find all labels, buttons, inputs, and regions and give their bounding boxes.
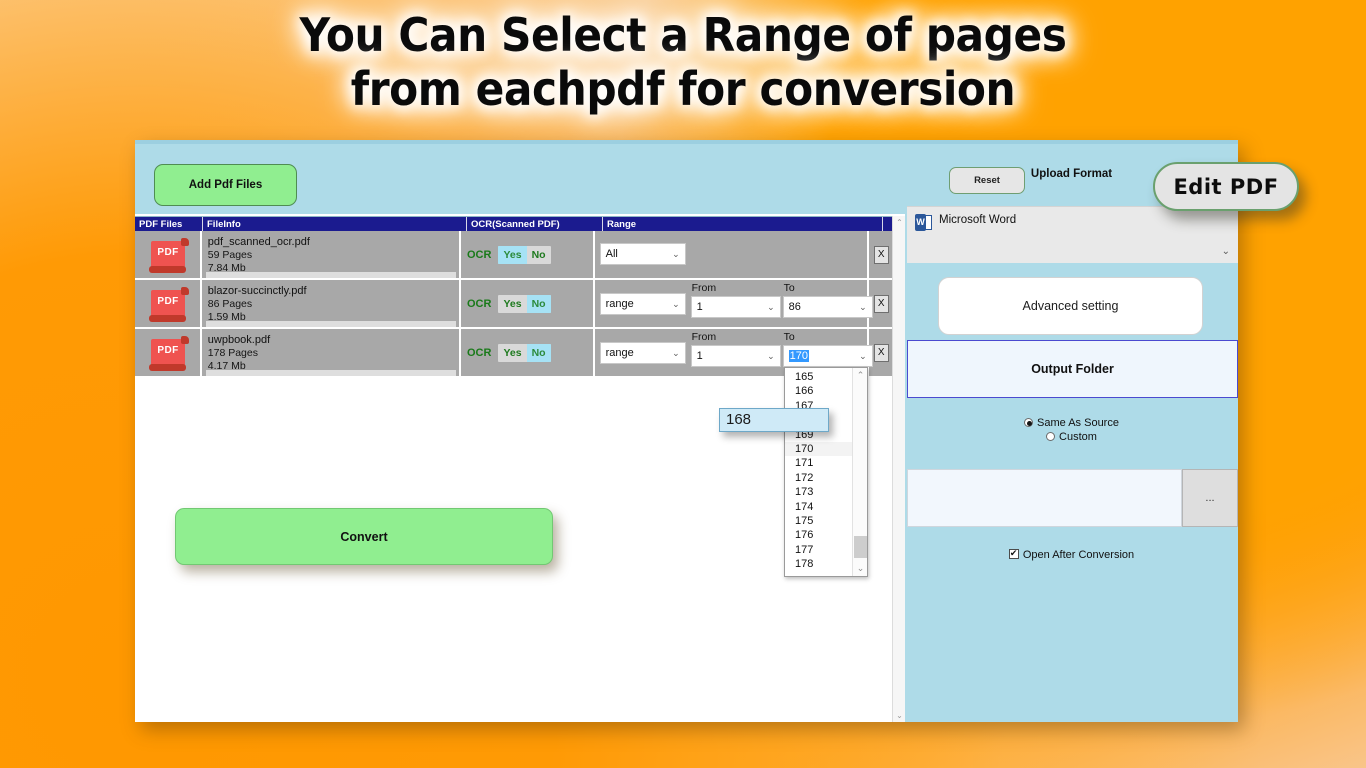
to-page-dropdown-list[interactable]: 165 166 167 169 170 171 172 173 174 175 … [784, 367, 868, 577]
ocr-yes-option[interactable]: Yes [498, 246, 526, 264]
radio-custom[interactable]: Custom [905, 430, 1238, 444]
pdf-icon-label: PDF [149, 345, 187, 356]
cell-file-info: blazor-succinctly.pdf 86 Pages 1.59 Mb [202, 280, 461, 327]
ocr-toggle[interactable]: Yes No [498, 344, 550, 362]
dropdown-option[interactable]: 166 [785, 384, 853, 398]
dropdown-option[interactable]: 173 [785, 485, 853, 499]
file-rows: PDF pdf_scanned_ocr.pdf 59 Pages 7.84 Mb… [135, 231, 893, 378]
chevron-down-icon: ⌄ [672, 244, 680, 264]
dropdown-option-highlighted[interactable]: 170 [785, 442, 853, 456]
row-progress-strip [206, 370, 456, 376]
cell-pdf-icon: PDF [135, 231, 202, 278]
file-name: pdf_scanned_ocr.pdf [208, 235, 459, 249]
to-label: To [784, 331, 795, 343]
convert-button[interactable]: Convert [175, 508, 553, 565]
ocr-label: OCR [467, 347, 491, 359]
chevron-down-icon: ⌄ [767, 297, 775, 317]
microsoft-word-icon: W [915, 214, 932, 231]
ocr-no-option[interactable]: No [527, 246, 551, 264]
radio-custom-label: Custom [1059, 431, 1097, 443]
application-window: Add Pdf Files PDF Files FileInfo OCR(Sca… [135, 140, 1238, 722]
file-name: blazor-succinctly.pdf [208, 284, 459, 298]
upload-format-select[interactable]: W Microsoft Word ⌄ [907, 206, 1238, 263]
column-header-ocr: OCR(Scanned PDF) [467, 217, 603, 231]
dropdown-option[interactable]: 176 [785, 528, 853, 542]
output-folder-header[interactable]: Output Folder [907, 340, 1238, 398]
radio-same-as-source-label: Same As Source [1037, 417, 1119, 429]
dropdown-magnified-value: 168 [719, 408, 829, 432]
table-row[interactable]: PDF pdf_scanned_ocr.pdf 59 Pages 7.84 Mb… [135, 231, 893, 280]
promo-headline: You Can Select a Range of pages from eac… [0, 8, 1366, 116]
dropdown-option[interactable]: 177 [785, 543, 853, 557]
cell-range: All ⌄ [595, 231, 870, 278]
dropdown-option[interactable]: 172 [785, 471, 853, 485]
from-label: From [692, 331, 717, 343]
dropdown-option[interactable]: 174 [785, 500, 853, 514]
pdf-icon-label: PDF [149, 296, 187, 307]
column-header-range: Range [603, 217, 883, 231]
cell-file-info: uwpbook.pdf 178 Pages 4.17 Mb [202, 329, 461, 376]
column-header-file-info: FileInfo [203, 217, 467, 231]
advanced-setting-button[interactable]: Advanced setting [938, 277, 1203, 335]
file-pages: 178 Pages [208, 347, 459, 360]
column-header-pdf-files: PDF Files [135, 217, 203, 231]
cell-delete: X [869, 329, 893, 376]
add-pdf-files-button[interactable]: Add Pdf Files [154, 164, 297, 206]
cell-delete: X [869, 280, 893, 327]
radio-same-as-source[interactable]: Same As Source [905, 416, 1238, 430]
browse-folder-button[interactable]: ... [1182, 469, 1238, 527]
from-label: From [692, 282, 717, 294]
pdf-file-icon: PDF [149, 335, 189, 373]
chevron-down-icon: ⌄ [767, 346, 775, 366]
ocr-label: OCR [467, 298, 491, 310]
dropdown-scrollbar[interactable]: ⌃ ⌄ [852, 368, 867, 576]
ocr-no-option[interactable]: No [527, 295, 551, 313]
cell-ocr: OCR Yes No [461, 231, 595, 278]
from-page-select[interactable]: 1 ⌄ [691, 345, 781, 367]
delete-row-button[interactable]: X [874, 295, 889, 313]
dropdown-option[interactable]: 178 [785, 557, 853, 571]
ocr-yes-option[interactable]: Yes [498, 344, 526, 362]
checkbox-icon[interactable] [1009, 549, 1019, 559]
cell-ocr: OCR Yes No [461, 280, 595, 327]
output-path-row: ... [907, 469, 1238, 527]
ocr-label: OCR [467, 249, 491, 261]
pdf-file-icon: PDF [149, 237, 189, 275]
scrollbar-thumb[interactable] [854, 536, 867, 558]
output-path-input[interactable] [907, 469, 1182, 527]
pdf-file-icon: PDF [149, 286, 189, 324]
chevron-down-icon: ⌄ [859, 346, 867, 366]
to-page-select[interactable]: 170 ⌄ [783, 345, 873, 367]
to-label: To [784, 282, 795, 294]
cell-ocr: OCR Yes No [461, 329, 595, 376]
reset-button[interactable]: Reset [949, 167, 1025, 194]
upload-format-value: Microsoft Word [939, 214, 1016, 226]
cell-pdf-icon: PDF [135, 280, 202, 327]
promo-line-1: You Can Select a Range of pages [55, 8, 1312, 62]
ocr-toggle[interactable]: Yes No [498, 246, 550, 264]
table-row[interactable]: PDF blazor-succinctly.pdf 86 Pages 1.59 … [135, 280, 893, 329]
radio-dot-icon [1024, 418, 1033, 427]
radio-dot-icon [1046, 432, 1055, 441]
cell-file-info: pdf_scanned_ocr.pdf 59 Pages 7.84 Mb [202, 231, 461, 278]
table-header-row: PDF Files FileInfo OCR(Scanned PDF) Rang… [135, 216, 905, 231]
cell-pdf-icon: PDF [135, 329, 202, 376]
ocr-yes-option[interactable]: Yes [498, 295, 526, 313]
ocr-toggle[interactable]: Yes No [498, 295, 550, 313]
chevron-down-icon: ⌄ [672, 343, 680, 363]
dropdown-options: 165 166 167 169 170 171 172 173 174 175 … [785, 370, 853, 571]
chevron-down-icon[interactable]: ⌄ [853, 561, 868, 576]
dropdown-option[interactable]: 165 [785, 370, 853, 384]
open-after-conversion-row[interactable]: Open After Conversion [905, 549, 1238, 561]
ocr-no-option[interactable]: No [527, 344, 551, 362]
toolbar: Add Pdf Files [135, 144, 905, 214]
open-after-conversion-label: Open After Conversion [1023, 549, 1134, 561]
dropdown-option[interactable]: 175 [785, 514, 853, 528]
row-progress-strip [206, 272, 456, 278]
range-mode-select[interactable]: range ⌄ [600, 293, 686, 315]
file-name: uwpbook.pdf [208, 333, 459, 347]
delete-row-button[interactable]: X [874, 246, 889, 264]
chevron-down-icon: ⌄ [672, 294, 680, 314]
chevron-down-icon: ⌄ [859, 297, 867, 317]
delete-row-button[interactable]: X [874, 344, 889, 362]
chevron-down-icon[interactable]: ⌄ [1222, 246, 1230, 257]
pdf-icon-label: PDF [149, 247, 187, 258]
chevron-up-icon[interactable]: ⌃ [853, 368, 868, 383]
row-progress-strip [206, 321, 456, 327]
range-mode-select[interactable]: All ⌄ [600, 243, 686, 265]
table-row[interactable]: PDF uwpbook.pdf 178 Pages 4.17 Mb OCR Ye… [135, 329, 893, 378]
range-mode-select[interactable]: range ⌄ [600, 342, 686, 364]
settings-panel: Upload Format W Microsoft Word ⌄ Advance… [905, 144, 1238, 722]
output-folder-radio-group: Same As Source Custom [905, 416, 1238, 444]
from-page-select[interactable]: 1 ⌄ [691, 296, 781, 318]
promo-line-2: from eachpdf for conversion [55, 62, 1312, 116]
cell-range: range ⌄ From 1 ⌄ To 86 ⌄ [595, 280, 870, 327]
to-page-select[interactable]: 86 ⌄ [783, 296, 873, 318]
cell-delete: X [869, 231, 893, 278]
file-pages: 59 Pages [208, 249, 459, 262]
edit-pdf-button[interactable]: Edit PDF [1153, 162, 1299, 211]
dropdown-option[interactable]: 171 [785, 456, 853, 470]
file-list-scrollbar[interactable]: ⌃ ⌄ [892, 216, 905, 722]
file-pages: 86 Pages [208, 298, 459, 311]
